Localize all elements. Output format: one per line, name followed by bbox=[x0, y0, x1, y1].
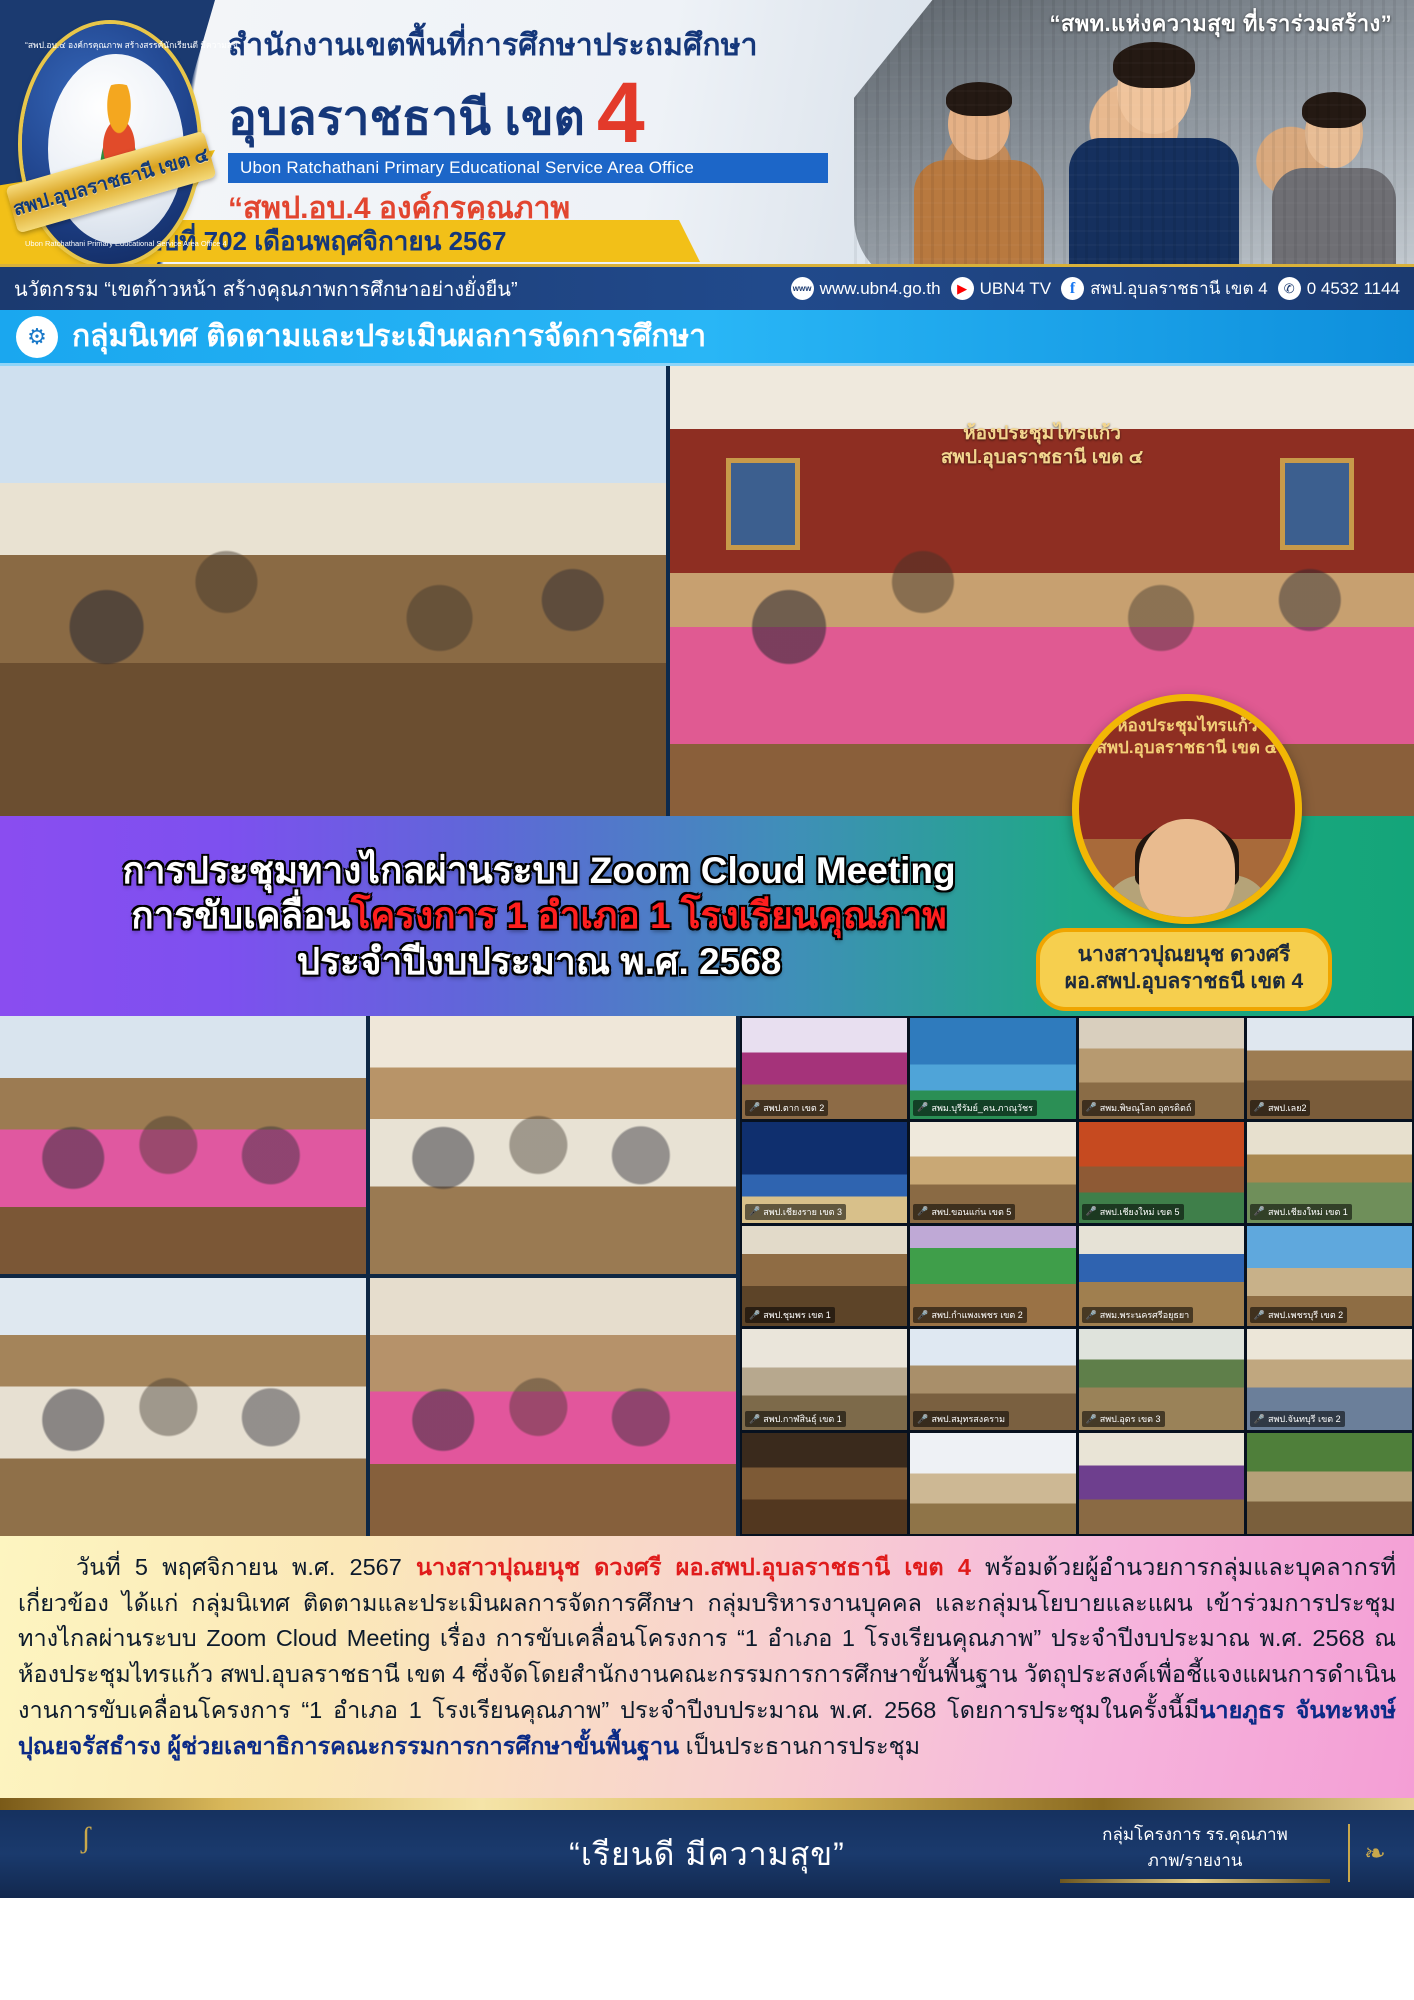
contact-youtube[interactable]: ▶ UBN4 TV bbox=[951, 277, 1052, 300]
muted-mic-icon: 🎤 bbox=[1254, 1415, 1265, 1424]
muted-mic-icon: 🎤 bbox=[1086, 1103, 1097, 1112]
zoom-participant-name: สพป.กำแพงเพชร เขต 2 bbox=[931, 1308, 1022, 1322]
photo-grid-left bbox=[0, 1016, 736, 1536]
zoom-participant-label: 🎤สพม.พระนครศรีอยุธยา bbox=[1082, 1307, 1194, 1323]
photo-meeting-1 bbox=[0, 1016, 366, 1274]
zoom-participant-label: 🎤สพป.เลย2 bbox=[1250, 1100, 1311, 1116]
muted-mic-icon: 🎤 bbox=[917, 1415, 928, 1424]
zoom-participant-tile[interactable]: 🎤สพป.อุดร เขต 3 bbox=[1079, 1329, 1244, 1430]
organization-logo: “สพป.อบ.๔ องค์กรคุณภาพ สร้างสรรค์นักเรีย… bbox=[16, 18, 206, 273]
zoom-participant-tile[interactable]: 🎤สพป.เชียงใหม่ เขต 5 bbox=[1079, 1122, 1244, 1223]
newsletter-page: “สพท.แห่งความสุข ที่เราร่วมสร้าง” “สพป.อ… bbox=[0, 0, 1414, 2000]
photo-meeting-room-left bbox=[0, 366, 666, 816]
page-header: “สพท.แห่งความสุข ที่เราร่วมสร้าง” “สพป.อ… bbox=[0, 0, 1414, 310]
muted-mic-icon: 🎤 bbox=[917, 1207, 928, 1216]
main-title-text-block: การประชุมทางไกลผ่านระบบ Zoom Cloud Meeti… bbox=[0, 848, 1070, 983]
contact-youtube-label: UBN4 TV bbox=[980, 279, 1052, 299]
photo-grid-left-row1 bbox=[0, 1016, 736, 1274]
zoom-participant-tile[interactable]: 🎤สพป.ตาก เขต 2 bbox=[742, 1018, 907, 1119]
header-people-group bbox=[864, 38, 1404, 288]
contact-facebook[interactable]: f สพป.อุบลราชธานี เขต 4 bbox=[1061, 275, 1268, 302]
zoom-participant-name: สพป.จันทบุรี เขต 2 bbox=[1268, 1412, 1341, 1426]
muted-mic-icon: 🎤 bbox=[1086, 1311, 1097, 1320]
muted-mic-icon: 🎤 bbox=[749, 1103, 760, 1112]
zoom-participant-label: 🎤สพป.จันทบุรี เขต 2 bbox=[1250, 1411, 1345, 1427]
article-closing-text: เป็นประธานการประชุม bbox=[679, 1733, 920, 1759]
portrait-room-sign-line1: ห้องประชุมไทรแก้ว bbox=[1096, 715, 1277, 737]
zoom-participant-label: 🎤สพป.กำแพงเพชร เขต 2 bbox=[913, 1307, 1027, 1323]
header-top-slogan: “สพท.แห่งความสุข ที่เราร่วมสร้าง” bbox=[1050, 6, 1392, 41]
zoom-participant-tile[interactable]: 🎤สพป.เชียงใหม่ เขต 1 bbox=[1247, 1122, 1412, 1223]
zoom-participant-tile[interactable] bbox=[910, 1433, 1075, 1534]
header-person-center bbox=[1059, 48, 1249, 288]
zoom-participant-label: 🎤สพป.ชุมพร เขต 1 bbox=[745, 1307, 835, 1323]
muted-mic-icon: 🎤 bbox=[1254, 1311, 1265, 1320]
director-position: ผอ.สพป.อุบลราชธนี เขต 4 bbox=[1050, 968, 1318, 995]
royal-portrait-frame-right bbox=[1280, 458, 1354, 550]
photo-grid-left-row2 bbox=[0, 1278, 736, 1536]
director-name: นางสาวปุณยนุช ดวงศรี bbox=[1050, 941, 1318, 968]
phone-icon: ✆ bbox=[1278, 277, 1301, 300]
zoom-participant-tile[interactable] bbox=[1247, 1433, 1412, 1534]
zoom-participant-label: 🎤สพป.เชียงใหม่ เขต 1 bbox=[1250, 1204, 1352, 1220]
main-title-line2-highlight: โครงการ 1 อำเภอ 1 โรงเรียนคุณภาพ bbox=[351, 895, 947, 936]
contact-website-label: www.ubn4.go.th bbox=[820, 279, 941, 299]
gears-icon: ⚙ bbox=[16, 316, 58, 358]
zoom-participant-tile[interactable]: 🎤สพป.สมุทรสงคราม bbox=[910, 1329, 1075, 1430]
muted-mic-icon: 🎤 bbox=[917, 1103, 928, 1112]
zoom-participant-tile[interactable] bbox=[742, 1433, 907, 1534]
zoom-participant-name: สพป.ขอนแก่น เขต 5 bbox=[931, 1205, 1011, 1219]
header-contact-bar: นวัตกรรม “เขตก้าวหน้า สร้างคุณภาพการศึกษ… bbox=[0, 264, 1414, 310]
globe-icon: www bbox=[791, 277, 814, 300]
footer-credit: กลุ่มโครงการ รร.คุณภาพ ภาพ/รายงาน bbox=[1060, 1822, 1330, 1883]
zoom-participant-name: สพป.ตาก เขต 2 bbox=[763, 1101, 824, 1115]
zoom-participant-tile[interactable]: 🎤สพป.กำแพงเพชร เขต 2 bbox=[910, 1226, 1075, 1327]
zoom-participant-name: สพป.ชุมพร เขต 1 bbox=[763, 1308, 831, 1322]
muted-mic-icon: 🎤 bbox=[749, 1311, 760, 1320]
zoom-participant-tile[interactable]: 🎤สพป.จันทบุรี เขต 2 bbox=[1247, 1329, 1412, 1430]
main-title-line1: การประชุมทางไกลผ่านระบบ Zoom Cloud Meeti… bbox=[8, 848, 1070, 893]
photo-meeting-4 bbox=[370, 1278, 736, 1536]
zoom-participant-name: สพป.เชียงใหม่ เขต 1 bbox=[1268, 1205, 1348, 1219]
header-photo-backdrop bbox=[854, 0, 1414, 288]
zoom-participant-tile[interactable]: 🎤สพป.เลย2 bbox=[1247, 1018, 1412, 1119]
zoom-participant-label: 🎤สพป.สมุทรสงคราม bbox=[913, 1411, 1009, 1427]
muted-mic-icon: 🎤 bbox=[1254, 1207, 1265, 1216]
zoom-participant-name: สพป.เลย2 bbox=[1268, 1101, 1307, 1115]
photo-meeting-3 bbox=[0, 1278, 366, 1536]
zoom-participants-grid: 🎤สพป.ตาก เขต 2🎤สพม.บุรีรัมย์_คน.ภาณุวัชร… bbox=[740, 1016, 1414, 1536]
zoom-participant-tile[interactable]: 🎤สพป.ขอนแก่น เขต 5 bbox=[910, 1122, 1075, 1223]
royal-portrait-frame-left bbox=[726, 458, 800, 550]
footer-credit-rule bbox=[1060, 1879, 1330, 1883]
photo-meeting-2 bbox=[370, 1016, 736, 1274]
muted-mic-icon: 🎤 bbox=[917, 1311, 928, 1320]
zoom-participant-label: 🎤สพป.เชียงใหม่ เขต 5 bbox=[1082, 1204, 1184, 1220]
main-title-line2: การขับเคลื่อนโครงการ 1 อำเภอ 1 โรงเรียนค… bbox=[8, 893, 1070, 938]
org-name-line2: อุบลราชธานี เขต bbox=[228, 95, 585, 143]
zoom-participant-name: สพป.สมุทรสงคราม bbox=[931, 1412, 1005, 1426]
muted-mic-icon: 🎤 bbox=[1086, 1207, 1097, 1216]
zoom-participant-label: 🎤สพป.อุดร เขต 3 bbox=[1082, 1411, 1165, 1427]
meeting-room-sign-line2: สพป.อุบลราชธานี เขต ๔ bbox=[941, 446, 1143, 470]
main-title-line3: ประจำปีงบประมาณ พ.ศ. 2568 bbox=[8, 939, 1070, 984]
article-date: วันที่ 5 พฤศจิกายน พ.ศ. 2567 bbox=[76, 1554, 416, 1580]
section-title-bar: ⚙ กลุ่มนิเทศ ติดตามและประเมินผลการจัดการ… bbox=[0, 310, 1414, 366]
contact-phone-label: 0 4532 1144 bbox=[1307, 279, 1400, 299]
muted-mic-icon: 🎤 bbox=[1254, 1103, 1265, 1112]
org-english-band: Ubon Ratchathani Primary Educational Ser… bbox=[228, 153, 828, 183]
photo-and-zoom-grid-row: 🎤สพป.ตาก เขต 2🎤สพม.บุรีรัมย์_คน.ภาณุวัชร… bbox=[0, 1016, 1414, 1536]
muted-mic-icon: 🎤 bbox=[749, 1415, 760, 1424]
zoom-participant-tile[interactable]: 🎤สพม.พระนครศรีอยุธยา bbox=[1079, 1226, 1244, 1327]
muted-mic-icon: 🎤 bbox=[749, 1207, 760, 1216]
contact-links: www www.ubn4.go.th ▶ UBN4 TV f สพป.อุบลร… bbox=[791, 275, 1414, 302]
portrait-face bbox=[1139, 819, 1235, 923]
zoom-participant-name: สพป.เชียงใหม่ เขต 5 bbox=[1100, 1205, 1180, 1219]
main-title-banner: การประชุมทางไกลผ่านระบบ Zoom Cloud Meeti… bbox=[0, 816, 1414, 1016]
director-name-chip: นางสาวปุณยนุช ดวงศรี ผอ.สพป.อุบลราชธนี เ… bbox=[1036, 928, 1332, 1011]
org-zone-number: 4 bbox=[597, 79, 645, 148]
youtube-icon: ▶ bbox=[951, 277, 974, 300]
muted-mic-icon: 🎤 bbox=[1086, 1415, 1097, 1424]
meeting-room-sign: ห้องประชุมไทรแก้ว สพป.อุบลราชธานี เขต ๔ bbox=[941, 422, 1143, 470]
footer-emblem-icon: ❧ bbox=[1348, 1824, 1400, 1882]
footer-credit-line1: กลุ่มโครงการ รร.คุณภาพ bbox=[1060, 1822, 1330, 1848]
director-portrait: ห้องประชุมไทรแก้ว สพป.อุบลราชธานี เขต ๔ bbox=[1072, 694, 1302, 924]
zoom-participant-name: สพม.พระนครศรีอยุธยา bbox=[1100, 1308, 1190, 1322]
zoom-participant-label: 🎤สพป.เพชรบุรี เขต 2 bbox=[1250, 1307, 1347, 1323]
page-footer: ʃ “เรียนดี มีความสุข” กลุ่มโครงการ รร.คุ… bbox=[0, 1810, 1414, 1898]
contact-facebook-label: สพป.อุบลราชธานี เขต 4 bbox=[1090, 275, 1268, 302]
zoom-participant-name: สพป.เพชรบุรี เขต 2 bbox=[1268, 1308, 1343, 1322]
zoom-participant-label: 🎤สพป.กาฬสินธุ์ เขต 1 bbox=[745, 1411, 846, 1427]
section-title: กลุ่มนิเทศ ติดตามและประเมินผลการจัดการศึ… bbox=[72, 313, 706, 360]
zoom-participant-label: 🎤สพม.บุรีรัมย์_คน.ภาณุวัชร bbox=[913, 1100, 1037, 1116]
zoom-participant-tile[interactable]: 🎤สพป.เชียงราย เขต 3 bbox=[742, 1122, 907, 1223]
zoom-participant-name: สพป.เชียงราย เขต 3 bbox=[763, 1205, 842, 1219]
contact-website[interactable]: www www.ubn4.go.th bbox=[791, 277, 941, 300]
innovation-slogan: นวัตกรรม “เขตก้าวหน้า สร้างคุณภาพการศึกษ… bbox=[0, 273, 518, 305]
zoom-participant-label: 🎤สพป.ขอนแก่น เขต 5 bbox=[913, 1204, 1015, 1220]
zoom-participant-name: สพม.พิษณุโลก อุตรดิตถ์ bbox=[1100, 1101, 1192, 1115]
article-body: วันที่ 5 พฤศจิกายน พ.ศ. 2567 นางสาวปุณยน… bbox=[0, 1536, 1414, 1798]
zoom-participant-tile[interactable]: 🎤สพป.ชุมพร เขต 1 bbox=[742, 1226, 907, 1327]
zoom-participant-tile[interactable]: 🎤สพม.พิษณุโลก อุตรดิตถ์ bbox=[1079, 1018, 1244, 1119]
org-english-name: Ubon Ratchathani Primary Educational Ser… bbox=[240, 158, 694, 178]
logo-ring-top-text: “สพป.อบ.๔ องค์กรคุณภาพ สร้างสรรค์นักเรีย… bbox=[25, 38, 195, 52]
portrait-room-sign-line2: สพป.อุบลราชธานี เขต ๔ bbox=[1096, 737, 1277, 759]
zoom-participant-label: 🎤สพป.เชียงราย เขต 3 bbox=[745, 1204, 846, 1220]
org-name-line1: สำนักงานเขตพื้นที่การศึกษาประถมศึกษา bbox=[228, 22, 928, 69]
header-person-right bbox=[1264, 98, 1404, 288]
zoom-participant-label: 🎤สพม.พิษณุโลก อุตรดิตถ์ bbox=[1082, 1100, 1196, 1116]
contact-phone[interactable]: ✆ 0 4532 1144 bbox=[1278, 277, 1400, 300]
zoom-participant-tile[interactable]: 🎤สพม.บุรีรัมย์_คน.ภาณุวัชร bbox=[910, 1018, 1075, 1119]
main-title-line2-prefix: การขับเคลื่อน bbox=[131, 895, 350, 936]
zoom-participant-name: สพม.บุรีรัมย์_คน.ภาณุวัชร bbox=[931, 1101, 1032, 1115]
zoom-participant-tile[interactable] bbox=[1079, 1433, 1244, 1534]
photo-meeting-room-right: ห้องประชุมไทรแก้ว สพป.อุบลราชธานี เขต ๔ bbox=[670, 366, 1414, 816]
footer-gold-divider bbox=[0, 1798, 1414, 1810]
portrait-room-sign: ห้องประชุมไทรแก้ว สพป.อุบลราชธานี เขต ๔ bbox=[1096, 715, 1277, 759]
zoom-participant-label: 🎤สพป.ตาก เขต 2 bbox=[745, 1100, 828, 1116]
facebook-icon: f bbox=[1061, 277, 1084, 300]
meeting-room-sign-line1: ห้องประชุมไทรแก้ว bbox=[941, 422, 1143, 446]
article-paragraph: วันที่ 5 พฤศจิกายน พ.ศ. 2567 นางสาวปุณยน… bbox=[18, 1550, 1396, 1764]
zoom-participant-tile[interactable]: 🎤สพป.กาฬสินธุ์ เขต 1 bbox=[742, 1329, 907, 1430]
org-name-line2-row: อุบลราชธานี เขต 4 bbox=[228, 71, 928, 143]
zoom-participant-tile[interactable]: 🎤สพป.เพชรบุรี เขต 2 bbox=[1247, 1226, 1412, 1327]
article-director-mention: นางสาวปุณยนุช ดวงศรี ผอ.สพป.อุบลราชธานี … bbox=[416, 1554, 971, 1580]
footer-credit-line2: ภาพ/รายงาน bbox=[1060, 1848, 1330, 1874]
zoom-participant-name: สพป.อุดร เขต 3 bbox=[1100, 1412, 1161, 1426]
zoom-participant-name: สพป.กาฬสินธุ์ เขต 1 bbox=[763, 1412, 842, 1426]
